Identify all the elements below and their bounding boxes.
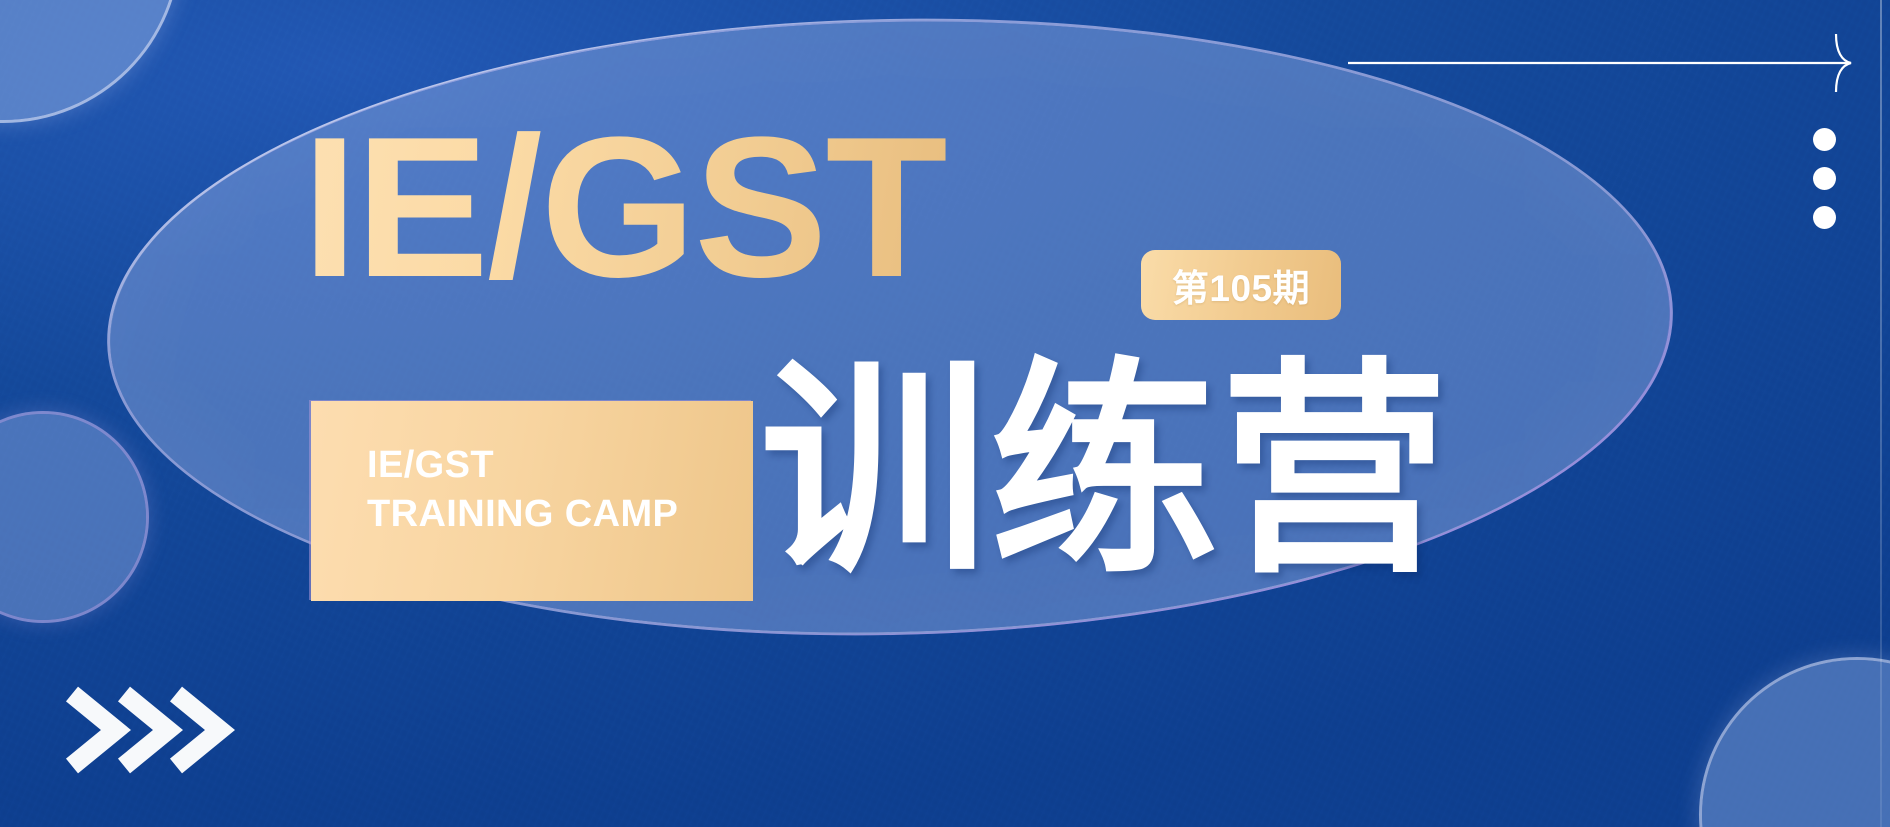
dot-3 <box>1813 206 1836 229</box>
long-arrow-right-icon <box>1348 28 1862 98</box>
caption-panel: IE/GST TRAINING CAMP <box>311 401 753 601</box>
dot-1 <box>1813 128 1836 151</box>
dot-2 <box>1813 167 1836 190</box>
subtitle-chinese: 训练营 <box>760 358 1450 586</box>
triple-chevron-right-icon-svg <box>62 680 262 780</box>
triple-chevron-right-icon <box>62 680 262 780</box>
caption-line-1: IE/GST <box>367 441 678 490</box>
three-dots-icon <box>1813 128 1836 229</box>
page-title: IE/GST <box>302 108 946 308</box>
right-edge-hairline <box>1880 0 1882 827</box>
caption-panel-text: IE/GST TRAINING CAMP <box>367 441 678 538</box>
caption-line-2: TRAINING CAMP <box>367 490 678 539</box>
long-arrow-right-icon-svg <box>1348 28 1862 98</box>
edition-badge: 第105期 <box>1141 250 1341 320</box>
promo-banner: IE/GST 第105期 IE/GST TRAINING CAMP 训练营 <box>0 0 1890 827</box>
